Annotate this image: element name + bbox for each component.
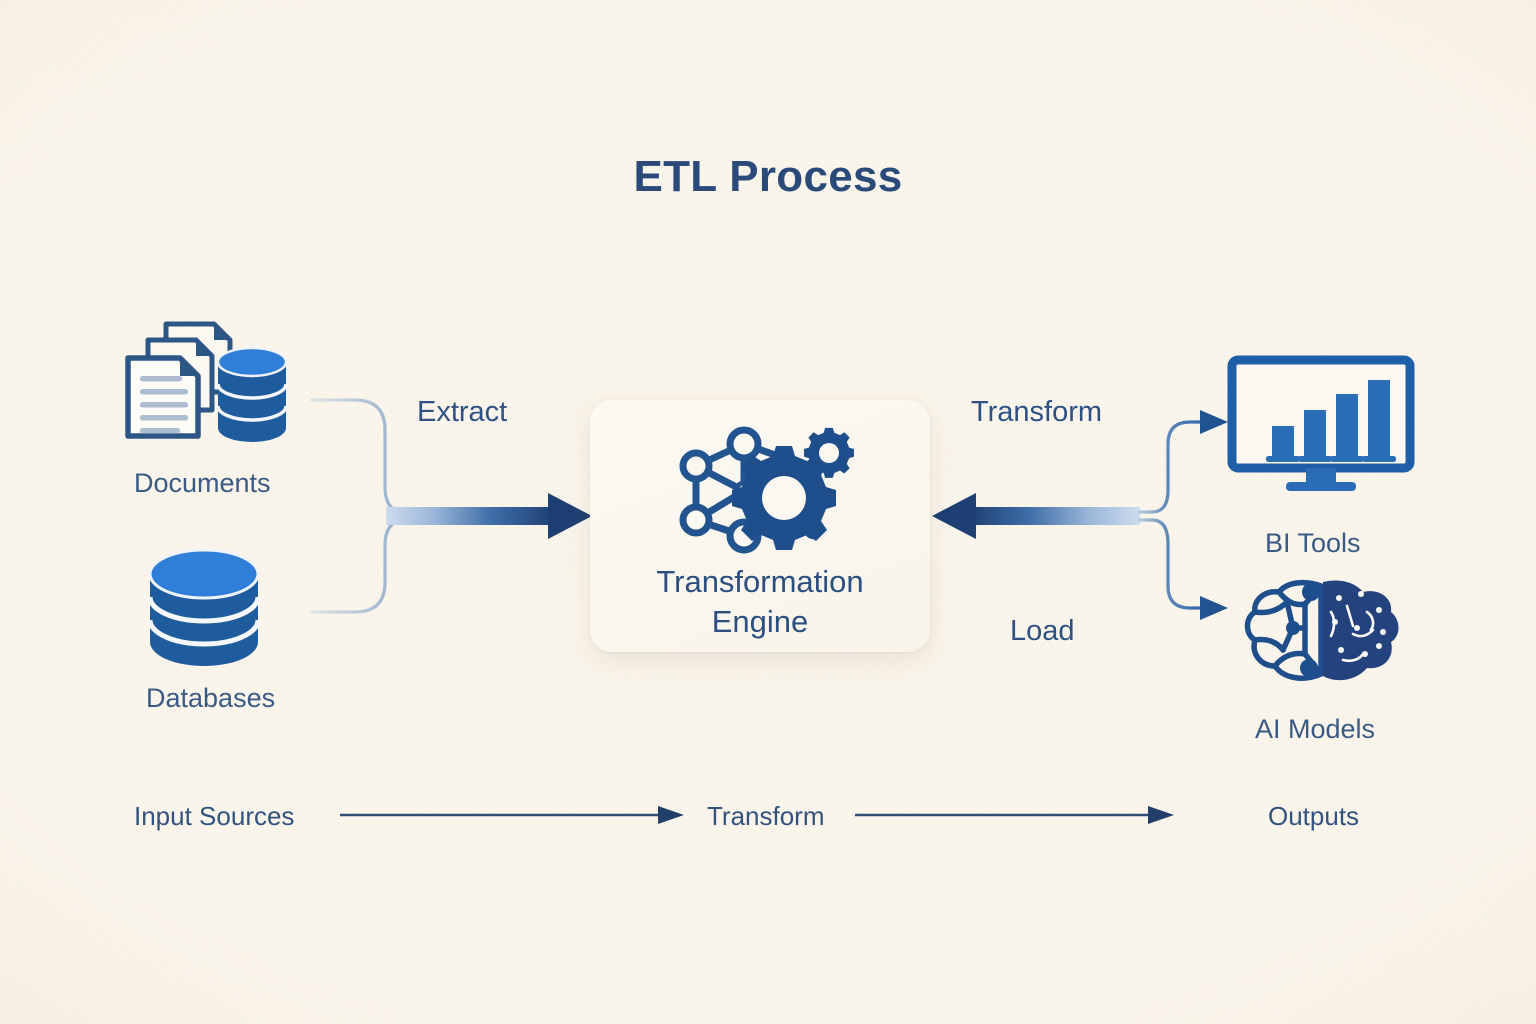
engine-label-line1: Transformation xyxy=(590,562,930,602)
input-label-databases: Databases xyxy=(146,683,275,714)
database-cylinder-small xyxy=(218,348,286,442)
output-label-ai-models: AI Models xyxy=(1255,714,1375,745)
input-label-documents: Documents xyxy=(134,468,271,499)
flow-label-transform: Transform xyxy=(971,396,1102,429)
stage-label-outputs: Outputs xyxy=(1268,801,1359,832)
flow-label-extract: Extract xyxy=(417,396,507,429)
engine-label-line2: Engine xyxy=(590,602,930,642)
extract-arrow xyxy=(386,493,592,539)
connector-engine-to-bi-tools xyxy=(1140,422,1205,512)
database-cylinder-icon xyxy=(142,548,282,672)
stage-label-input-sources: Input Sources xyxy=(134,801,294,832)
transform-load-arrow xyxy=(932,493,1140,539)
flow-label-load: Load xyxy=(1010,615,1075,648)
monitor-bar-chart-icon xyxy=(1228,356,1418,496)
arrowhead-bi-tools xyxy=(1200,410,1228,434)
output-label-bi-tools: BI Tools xyxy=(1265,528,1361,559)
arrowhead-ai-models xyxy=(1200,596,1228,620)
transformation-engine-label: Transformation Engine xyxy=(590,562,930,642)
bottom-arrow-transform-to-outputs xyxy=(855,806,1174,824)
brain-ai-icon xyxy=(1243,578,1403,693)
bottom-arrow-input-to-transform xyxy=(340,806,684,824)
network-gears-icon xyxy=(666,424,856,554)
connector-engine-to-ai-models xyxy=(1140,520,1205,608)
diagram-canvas: ETL Process xyxy=(0,0,1536,1024)
connector-databases-to-engine xyxy=(312,518,560,612)
documents-database-icon xyxy=(118,318,318,458)
stage-label-transform: Transform xyxy=(707,801,825,832)
